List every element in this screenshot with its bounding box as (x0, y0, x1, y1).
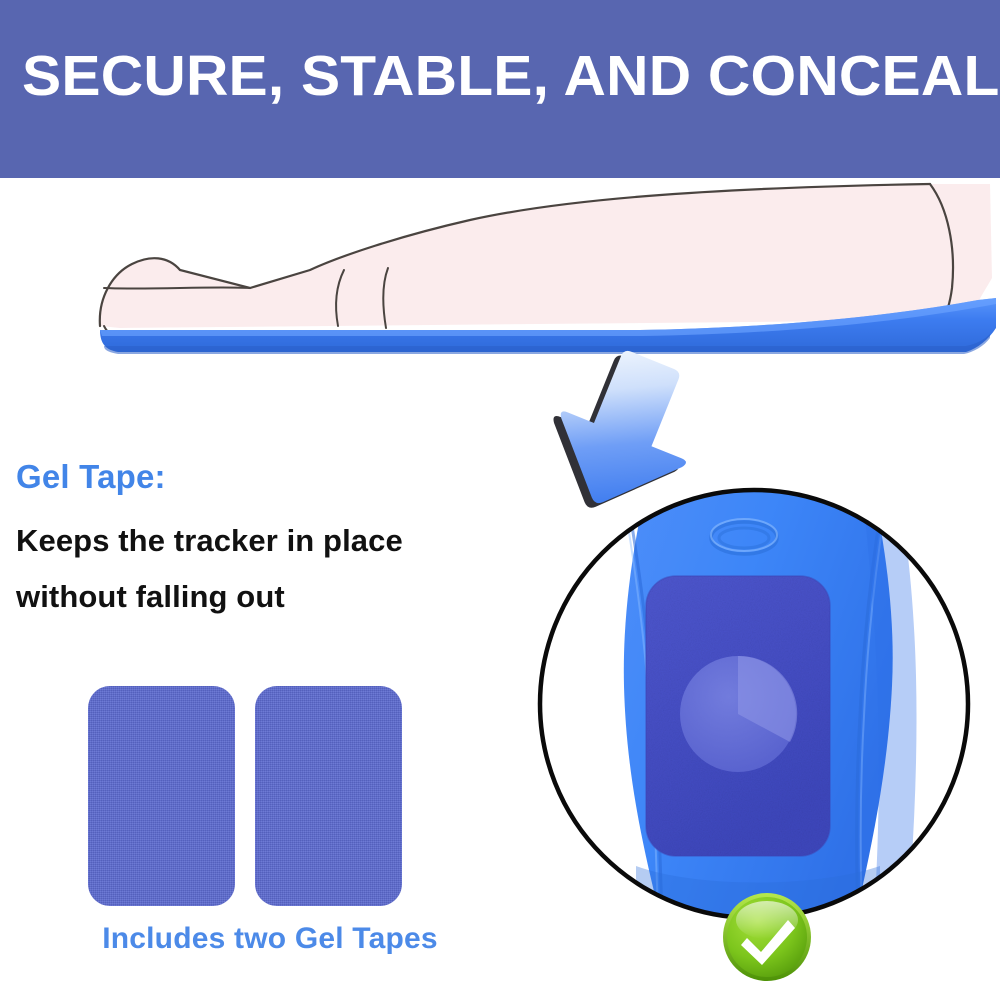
gel-tape-swatch-2 (255, 686, 402, 906)
gel-tape-description: Keeps the tracker in place without falli… (16, 513, 526, 625)
foot-on-insole-illustration (0, 178, 1000, 358)
gel-tape-description-line-1: Keeps the tracker in place (16, 513, 526, 569)
gel-tape-heading: Gel Tape: (16, 455, 526, 499)
gel-tape-swatch-1 (88, 686, 235, 906)
big-toe-crease (104, 287, 250, 288)
green-check-badge (722, 892, 812, 982)
gel-tapes-caption: Includes two Gel Tapes (60, 922, 480, 956)
foot-shape (100, 184, 992, 328)
gel-tape-swatches (88, 686, 400, 908)
insole-pocket-closeup (536, 486, 972, 922)
header-band: SECURE, STABLE, AND CONCEALE (0, 0, 1000, 178)
gel-tape-text-block: Gel Tape: Keeps the tracker in place wit… (16, 455, 526, 625)
page-title: SECURE, STABLE, AND CONCEALE (22, 44, 1000, 108)
infographic-page: SECURE, STABLE, AND CONCEALE (0, 0, 1000, 1000)
gel-tape-description-line-2: without falling out (16, 569, 526, 625)
